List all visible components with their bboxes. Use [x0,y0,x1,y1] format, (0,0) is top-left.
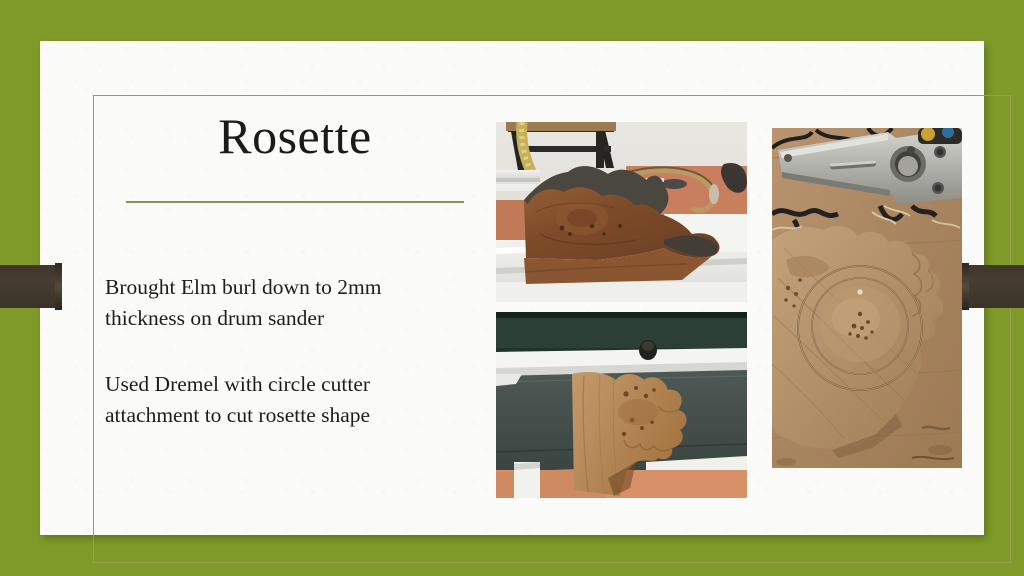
ribbon-banner-right [962,265,1024,308]
presentation-slide: Rosette Brought Elm burl down to 2mm thi… [0,0,1024,576]
slide-title: Rosette [126,108,464,166]
body-paragraph-2: Used Dremel with circle cutter attachmen… [105,369,465,432]
body-paragraph-1: Brought Elm burl down to 2mm thickness o… [105,272,465,335]
slide-body-text: Brought Elm burl down to 2mm thickness o… [105,272,465,432]
title-underline-rule [126,201,464,203]
ribbon-banner-left [0,265,62,308]
photo-sanded-burl-panel-exiting-sander [496,312,747,498]
photo-dremel-circle-cutter-scribed-rosette [772,128,962,468]
photo-elm-burl-slab-on-drum-sander [496,122,747,302]
